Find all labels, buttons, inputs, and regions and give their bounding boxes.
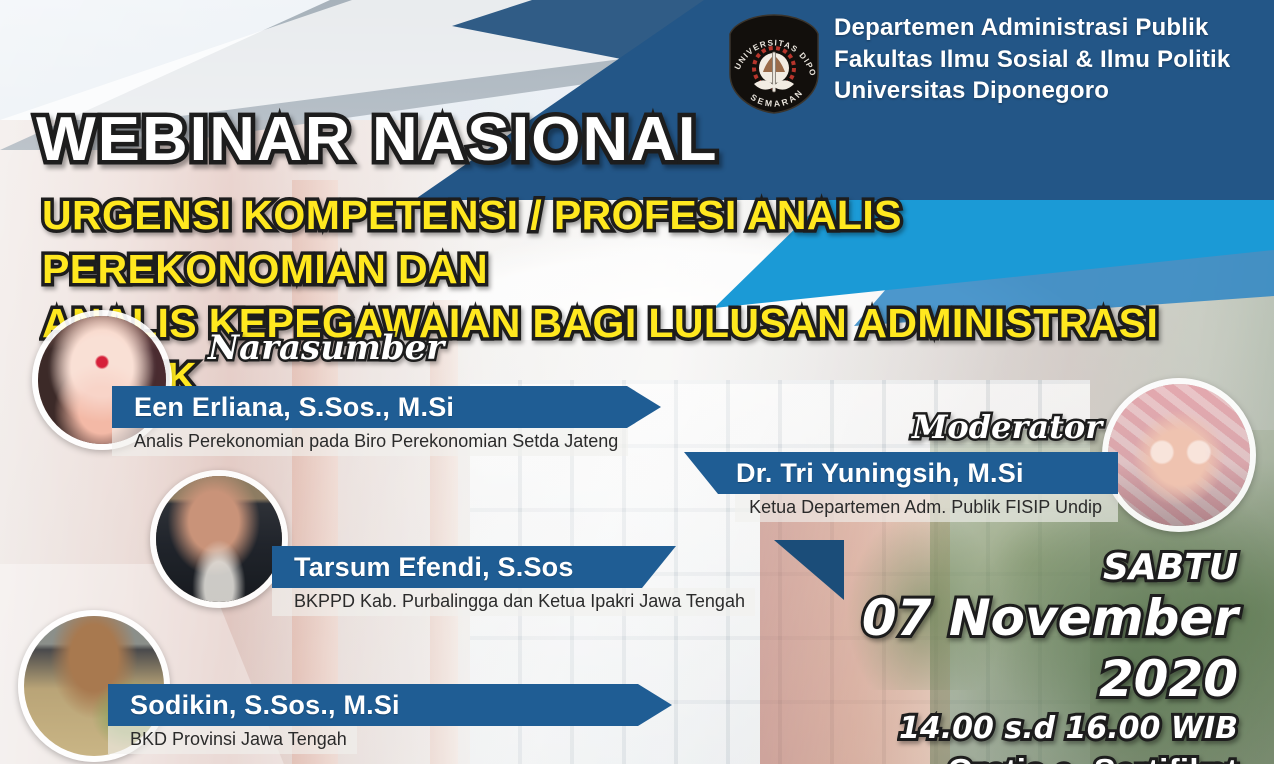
moderator-name: Dr. Tri Yuningsih, M.Si xyxy=(718,458,1040,489)
narasumber-label: Narasumber xyxy=(208,328,444,368)
speaker-name: Tarsum Efendi, S.Sos xyxy=(272,552,574,583)
banner-arrow-right-icon xyxy=(642,546,676,588)
speaker-name: Een Erliana, S.Sos., M.Si xyxy=(112,392,454,423)
speaker-name-banner: Een Erliana, S.Sos., M.Si xyxy=(112,386,627,428)
event-day: SABTU xyxy=(798,548,1238,588)
institution-line-1: Departemen Administrasi Publik xyxy=(834,12,1274,44)
speaker-card-3: Sodikin, S.Sos., M.Si BKD Provinsi Jawa … xyxy=(108,684,638,754)
page-title: WEBINAR NASIONAL xyxy=(36,104,811,175)
avatar-tarsum-efendi xyxy=(150,470,288,608)
speaker-card-2: Tarsum Efendi, S.Sos BKPPD Kab. Purbalin… xyxy=(272,546,755,616)
page-subtitle-line-1: URGENSI KOMPETENSI / PROFESI ANALIS PERE… xyxy=(42,188,1252,296)
speaker-affiliation: BKD Provinsi Jawa Tengah xyxy=(108,726,357,754)
institution-header: Departemen Administrasi Publik Fakultas … xyxy=(834,12,1274,107)
institution-line-2: Fakultas Ilmu Sosial & Ilmu Politik xyxy=(834,44,1274,76)
speaker-name-banner: Tarsum Efendi, S.Sos xyxy=(272,546,642,588)
moderator-label: Moderator xyxy=(912,408,1102,446)
event-details: SABTU 07 November 2020 14.00 s.d 16.00 W… xyxy=(798,548,1238,764)
speaker-affiliation: Analis Perekonomian pada Biro Perekonomi… xyxy=(112,428,628,456)
webinar-poster: UNIVERSITAS DIPONEGORO SEMARANG Departem… xyxy=(0,0,1274,764)
event-time: 14.00 s.d 16.00 WIB xyxy=(798,710,1238,748)
event-date: 07 November 2020 xyxy=(798,588,1238,710)
moderator-name-banner: Dr. Tri Yuningsih, M.Si xyxy=(718,452,1118,494)
speaker-name-banner: Sodikin, S.Sos., M.Si xyxy=(108,684,638,726)
speaker-name: Sodikin, S.Sos., M.Si xyxy=(108,690,400,721)
moderator-affiliation: Ketua Departemen Adm. Publik FISIP Undip xyxy=(735,494,1118,522)
event-certificate: Gratis e- Sertifikat xyxy=(798,750,1238,764)
speaker-card-1: Een Erliana, S.Sos., M.Si Analis Perekon… xyxy=(112,386,628,456)
institution-line-3: Universitas Diponegoro xyxy=(834,75,1274,107)
moderator-card: Dr. Tri Yuningsih, M.Si Ketua Departemen… xyxy=(718,452,1118,522)
undip-logo: UNIVERSITAS DIPONEGORO SEMARANG xyxy=(722,12,826,116)
speaker-affiliation: BKPPD Kab. Purbalingga dan Ketua Ipakri … xyxy=(272,588,755,616)
avatar-tri-yuningsih xyxy=(1102,378,1256,532)
page-subtitle: URGENSI KOMPETENSI / PROFESI ANALIS PERE… xyxy=(42,188,1252,404)
